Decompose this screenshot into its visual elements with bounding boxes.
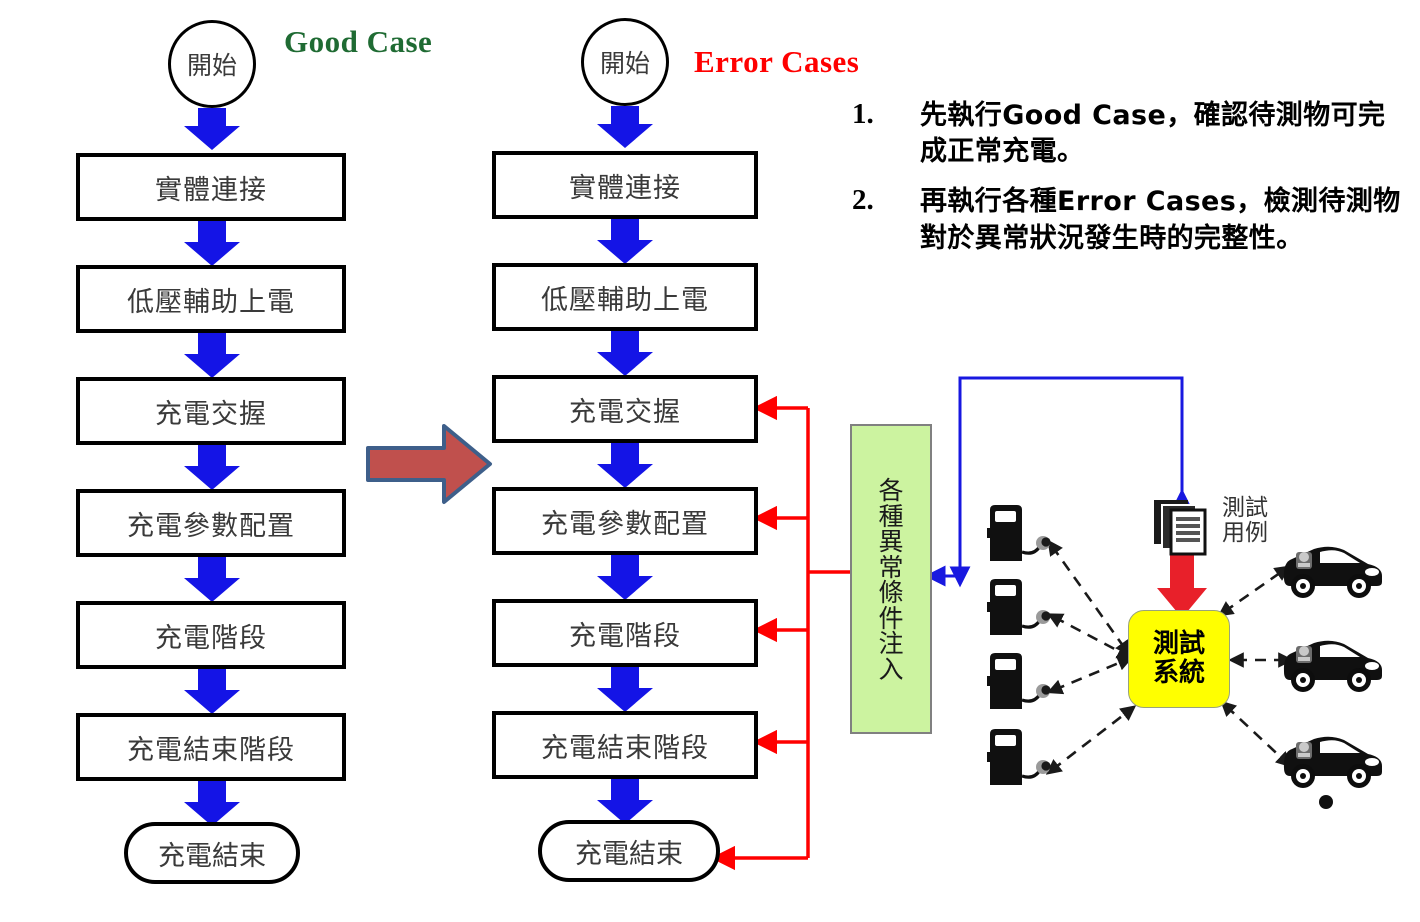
test-cases-feed-arrow [1157, 550, 1207, 618]
injection-char-0: 各 [878, 478, 903, 504]
test-system-label-line1: 測試 [1153, 630, 1205, 659]
notes-list: 1. 先執行Good Case，確認待測物可完成正常充電。 2. 再執行各種Er… [852, 98, 1412, 271]
error-condition-injection-box[interactable]: 各 種 異 常 條 件 注 入 [850, 424, 932, 734]
good-to-error-arrow [368, 426, 490, 502]
note-item-1: 1. 先執行Good Case，確認待測物可完成正常充電。 [852, 98, 1412, 170]
charger-icon-3 [984, 650, 1056, 712]
error-cases-start[interactable]: 開始 [581, 18, 669, 106]
note-number-1: 1. [852, 98, 920, 131]
error-cases-step-6[interactable]: 充電結束階段 [492, 711, 758, 779]
charger-system-links [1052, 546, 1130, 770]
error-cases-title: Error Cases [694, 44, 859, 80]
note-item-2: 2. 再執行各種Error Cases，檢測待測物對於異常狀況發生時的完整性。 [852, 184, 1412, 256]
injection-char-3: 常 [878, 555, 903, 581]
charger-icon-4 [984, 726, 1056, 788]
good-case-step-1[interactable]: 實體連接 [76, 153, 346, 221]
test-cases-label-line1: 測試 [1222, 496, 1268, 521]
diagram-canvas: Good Case 開始 實體連接 低壓輔助上電 充電交握 充電參數配置 充電階… [0, 0, 1420, 922]
good-case-step-6[interactable]: 充電結束階段 [76, 713, 346, 781]
error-cases-step-1[interactable]: 實體連接 [492, 151, 758, 219]
error-cases-step-5[interactable]: 充電階段 [492, 599, 758, 667]
test-system-injection-link [936, 378, 1182, 576]
error-cases-step-4[interactable]: 充電參數配置 [492, 487, 758, 555]
good-case-step-5[interactable]: 充電階段 [76, 601, 346, 669]
test-cases-label: 測試 用例 [1222, 496, 1268, 546]
injection-char-4: 條 [878, 580, 903, 606]
injection-char-2: 異 [878, 529, 903, 555]
charger-icon-2 [984, 576, 1056, 638]
more-items-dot [1318, 794, 1334, 810]
good-case-step-3[interactable]: 充電交握 [76, 377, 346, 445]
good-case-title: Good Case [284, 24, 432, 60]
injection-char-1: 種 [878, 504, 903, 530]
test-system-box[interactable]: 測試 系統 [1128, 610, 1230, 708]
injection-char-5: 件 [878, 606, 903, 632]
note-number-2: 2. [852, 184, 920, 217]
car-icon-2 [1276, 632, 1386, 694]
error-cases-end[interactable]: 充電結束 [538, 820, 720, 882]
error-cases-step-3[interactable]: 充電交握 [492, 375, 758, 443]
note-text-1: 先執行Good Case，確認待測物可完成正常充電。 [920, 98, 1412, 170]
test-cases-icon [1152, 498, 1214, 556]
test-cases-label-line2: 用例 [1222, 521, 1268, 546]
note-text-2: 再執行各種Error Cases，檢測待測物對於異常狀況發生時的完整性。 [920, 184, 1412, 256]
good-case-step-4[interactable]: 充電參數配置 [76, 489, 346, 557]
good-case-start[interactable]: 開始 [168, 20, 256, 108]
car-icon-1 [1276, 538, 1386, 600]
charger-icon-1 [984, 502, 1056, 564]
error-cases-step-2[interactable]: 低壓輔助上電 [492, 263, 758, 331]
good-case-step-2[interactable]: 低壓輔助上電 [76, 265, 346, 333]
injection-char-6: 注 [878, 631, 903, 657]
injection-char-7: 入 [878, 657, 903, 683]
test-system-label-line2: 系統 [1153, 659, 1205, 688]
good-case-end[interactable]: 充電結束 [124, 822, 300, 884]
car-icon-3 [1276, 728, 1386, 790]
